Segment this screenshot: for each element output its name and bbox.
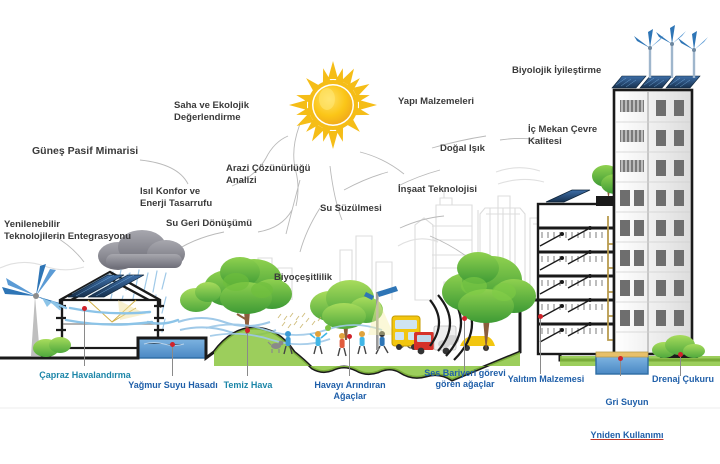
label-gunes-pasif-mimarisi: Güneş Pasif Mimarisi — [32, 145, 138, 158]
sun-icon — [279, 51, 386, 158]
callout-stem — [84, 308, 85, 366]
label-su-suzulmesi: Su Süzülmesi — [320, 203, 382, 215]
label-havayi-arindiran-agaclar: Havayı Arındıran Ağaçlar — [303, 380, 397, 403]
label-gri-suyun-yeniden-kullanimi: Gri Suyun Yniden Kullanımı — [588, 374, 666, 464]
callout-marker — [618, 356, 623, 361]
callout-marker — [82, 306, 87, 311]
label-arazi-cozunurlugu-analizi: Arazi Çözünürlüğü Analizi — [226, 163, 310, 187]
label-temiz-hava: Temiz Hava — [212, 380, 284, 391]
label-isil-konfor-ve-enerji-tasarrufu: Isıl Konfor ve Enerji Tasarrufu — [140, 186, 212, 210]
greywater-tank — [596, 352, 648, 374]
label-su-geri-donusumu: Su Geri Dönüşümü — [166, 218, 252, 230]
callout-marker — [347, 334, 352, 339]
label-ic-mekan-cevre-kalitesi: İç Mekan Çevre Kalitesi — [528, 124, 597, 148]
label-ses-bariyeri-goren-agaclar: Ses Bariyeri görevi gören ağaçlar — [417, 368, 513, 391]
infographic-canvas: Güneş Pasif Mimarisi Saha ve Ekolojik De… — [0, 0, 720, 427]
solar-panel-icon — [546, 190, 590, 202]
label-gri-suyun-line2: Yniden Kullanımı — [588, 430, 666, 441]
label-yenilenebilir-teknolojilerin-entegrasyonu: Yenilenebilir Teknolojilerin Entegrasyon… — [4, 219, 131, 243]
label-gri-suyun-line1: Gri Suyun — [588, 397, 666, 408]
label-saha-ve-ekolojik-degerlendirme: Saha ve Ekolojik Değerlendirme — [174, 100, 249, 124]
louvre-windows — [620, 100, 644, 172]
callout-marker — [170, 342, 175, 347]
label-yalitim-malzemesi: Yalıtım Malzemesi — [505, 374, 587, 385]
callout-marker — [538, 314, 543, 319]
label-insaat-teknolojisi: İnşaat Teknolojisi — [398, 184, 477, 196]
wind-turbine-icon — [634, 25, 708, 78]
callout-stem — [540, 316, 541, 374]
label-drenaj-cukuru: Drenaj Çukuru — [648, 374, 718, 385]
label-biyocesitlilik: Biyoçeşitlilik — [274, 272, 332, 284]
callout-marker — [678, 352, 683, 357]
callout-marker — [462, 316, 467, 321]
label-biyolojik-iyilestirme: Biyolojik İyileştirme — [512, 65, 601, 77]
callout-marker — [245, 328, 250, 333]
callout-stem — [464, 318, 465, 374]
callout-stem — [349, 336, 350, 376]
solar-panel-icon — [612, 76, 700, 88]
apartment-tower — [612, 25, 708, 354]
label-dogal-isik: Doğal Işık — [440, 143, 485, 155]
callout-stem — [247, 330, 248, 376]
label-yapi-malzemeleri: Yapı Malzemeleri — [398, 96, 474, 108]
callout-stem — [680, 354, 681, 376]
callout-stem — [172, 344, 173, 376]
